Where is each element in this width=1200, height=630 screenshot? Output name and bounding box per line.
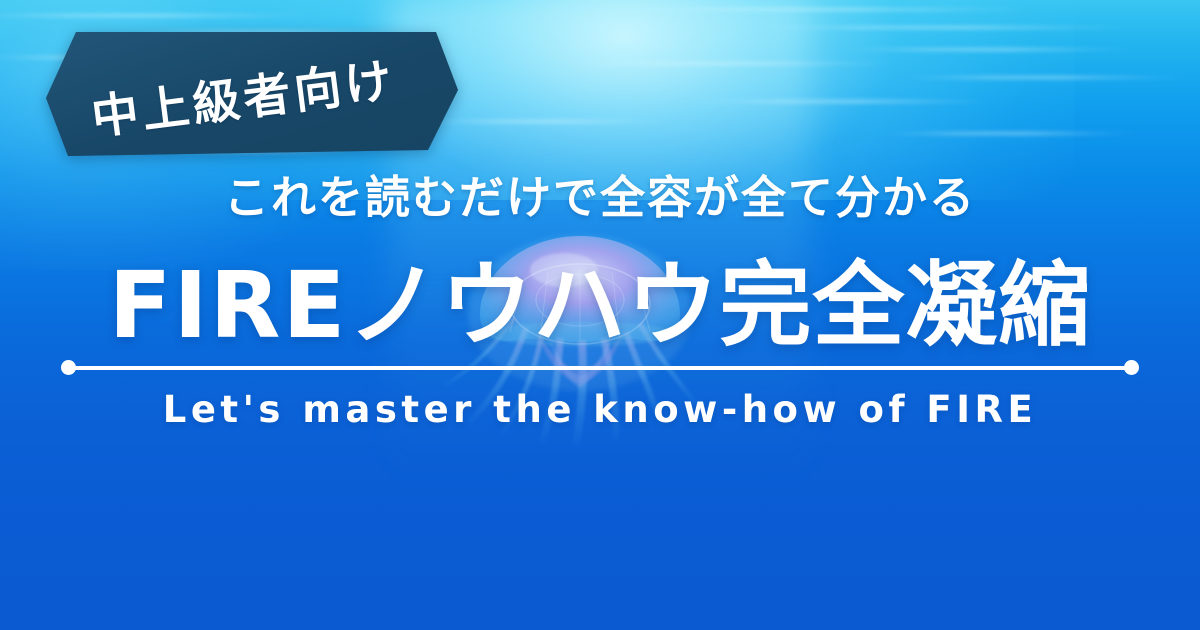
subtitle-japanese: これを読むだけで全容が全て分かる [0, 171, 1200, 225]
dot-end-cap-icon-right [1124, 360, 1139, 375]
headline-block: これを読むだけで全容が全て分かる FIREノウハウ完全凝縮 Let's mast… [0, 0, 1200, 630]
main-title-latin: FIRE [109, 252, 348, 359]
divider-rule [68, 366, 1132, 370]
main-title-japanese: ノウハウ完全凝縮 [347, 252, 1091, 359]
divider [61, 360, 1139, 375]
main-title: FIREノウハウ完全凝縮 [0, 258, 1200, 355]
tagline-english: Let's master the know-how of FIRE [0, 388, 1200, 431]
ogp-banner: 中上級者向け これを読むだけで全容が全て分かる FIREノウハウ完全凝縮 Let… [0, 0, 1200, 630]
